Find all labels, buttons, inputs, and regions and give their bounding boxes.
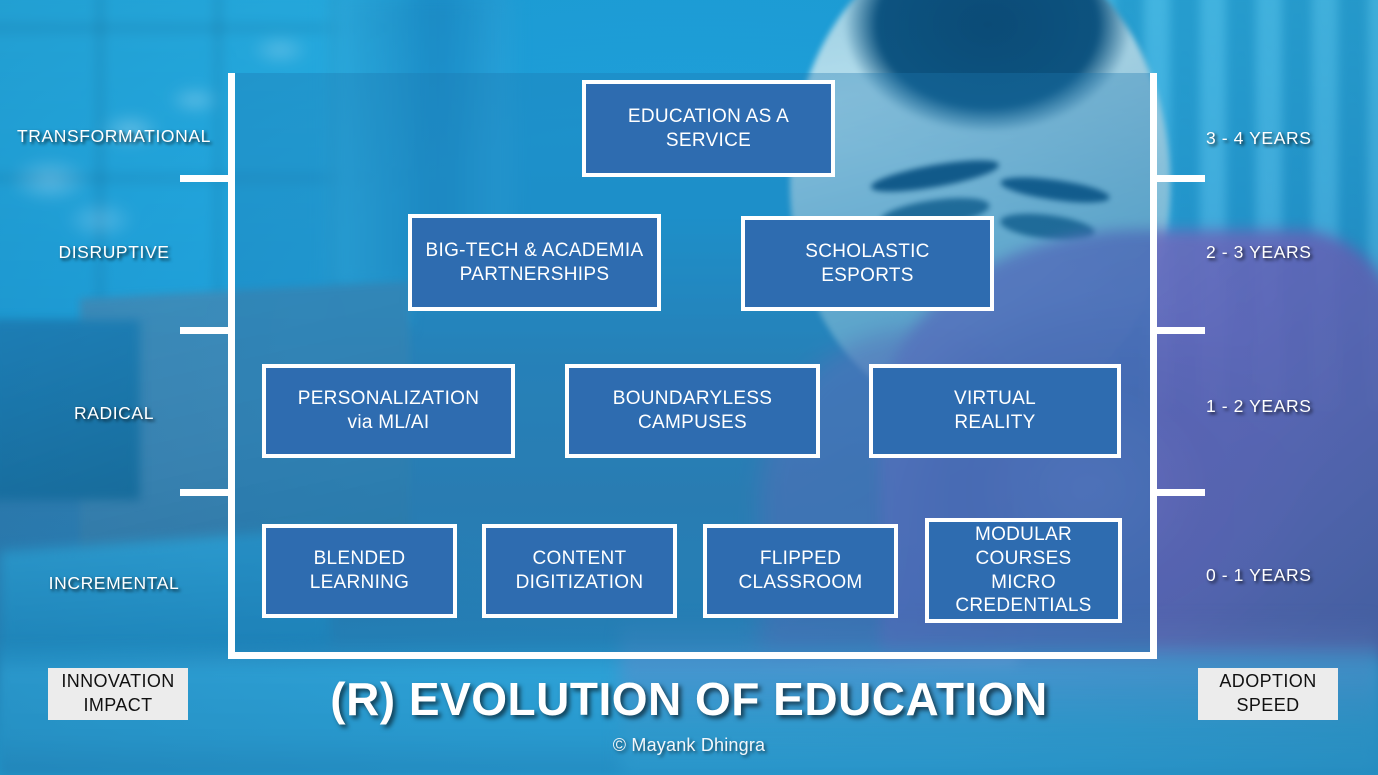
- innovation-impact-axis: [228, 73, 235, 659]
- matrix-baseline: [228, 652, 1157, 659]
- innovation-card-label: BLENDEDLEARNING: [310, 547, 410, 595]
- innovation-card-education-as-a-service[interactable]: EDUCATION AS A SERVICE: [582, 80, 835, 177]
- speed-axis-label-3: 0 - 1 YEARS: [1206, 565, 1312, 586]
- speed-axis-tick: [1150, 175, 1205, 182]
- innovation-card-label: BIG-TECH & ACADEMIAPARTNERSHIPS: [426, 239, 644, 287]
- innovation-card-label: FLIPPEDCLASSROOM: [738, 547, 862, 595]
- innovation-card-line: MODULAR COURSES: [929, 523, 1118, 571]
- innovation-card-line: FLIPPED: [738, 547, 862, 571]
- innovation-card-virtual-reality[interactable]: VIRTUALREALITY: [869, 364, 1121, 458]
- innovation-card-line: SCHOLASTIC: [805, 240, 929, 264]
- innovation-card-line: BLENDED: [310, 547, 410, 571]
- impact-axis-tick: [180, 327, 235, 334]
- innovation-card-line: REALITY: [954, 411, 1036, 435]
- innovation-card-big-tech-academia-partnerships[interactable]: BIG-TECH & ACADEMIAPARTNERSHIPS: [408, 214, 661, 311]
- impact-axis-label-0: TRANSFORMATIONAL: [8, 126, 220, 147]
- impact-axis-label-1: DISRUPTIVE: [8, 242, 220, 263]
- innovation-card-line: CLASSROOM: [738, 571, 862, 595]
- innovation-card-line: BIG-TECH & ACADEMIA: [426, 239, 644, 263]
- innovation-card-label: CONTENTDIGITIZATION: [516, 547, 644, 595]
- innovation-card-line: ESPORTS: [805, 264, 929, 288]
- innovation-card-line: EDUCATION AS A SERVICE: [586, 105, 831, 153]
- innovation-card-line: via ML/AI: [298, 411, 480, 435]
- impact-axis-tick: [180, 175, 235, 182]
- speed-axis-label-1: 2 - 3 YEARS: [1206, 242, 1312, 263]
- credit-line: © Mayank Dhingra: [0, 735, 1378, 756]
- innovation-card-label: PERSONALIZATIONvia ML/AI: [298, 387, 480, 435]
- innovation-card-line: VIRTUAL: [954, 387, 1036, 411]
- innovation-card-content-digitization[interactable]: CONTENTDIGITIZATION: [482, 524, 677, 618]
- infographic-canvas: TRANSFORMATIONALDISRUPTIVERADICALINCREME…: [0, 0, 1378, 775]
- innovation-card-line: PARTNERSHIPS: [426, 263, 644, 287]
- innovation-card-label: MODULAR COURSESMICROCREDENTIALS: [929, 523, 1118, 618]
- impact-axis-label-3: INCREMENTAL: [8, 573, 220, 594]
- innovation-card-personalization-via-ml-ai[interactable]: PERSONALIZATIONvia ML/AI: [262, 364, 515, 458]
- innovation-card-flipped-classroom[interactable]: FLIPPEDCLASSROOM: [703, 524, 898, 618]
- impact-axis-tick: [180, 489, 235, 496]
- innovation-card-scholastic-esports[interactable]: SCHOLASTICESPORTS: [741, 216, 994, 311]
- innovation-card-label: VIRTUALREALITY: [954, 387, 1036, 435]
- innovation-card-line: LEARNING: [310, 571, 410, 595]
- adoption-speed-axis: [1150, 73, 1157, 659]
- speed-axis-label-0: 3 - 4 YEARS: [1206, 128, 1312, 149]
- speed-axis-tick: [1150, 489, 1205, 496]
- innovation-card-label: EDUCATION AS A SERVICE: [586, 105, 831, 153]
- innovation-card-line: CONTENT: [516, 547, 644, 571]
- innovation-card-line: BOUNDARYLESS: [613, 387, 773, 411]
- innovation-card-line: DIGITIZATION: [516, 571, 644, 595]
- innovation-card-line: CAMPUSES: [613, 411, 773, 435]
- innovation-card-blended-learning[interactable]: BLENDEDLEARNING: [262, 524, 457, 618]
- innovation-card-boundaryless-campuses[interactable]: BOUNDARYLESSCAMPUSES: [565, 364, 820, 458]
- innovation-card-label: SCHOLASTICESPORTS: [805, 240, 929, 288]
- page-title: (R) EVOLUTION OF EDUCATION: [0, 672, 1378, 726]
- impact-axis-label-2: RADICAL: [8, 403, 220, 424]
- speed-axis-tick: [1150, 327, 1205, 334]
- innovation-card-line: PERSONALIZATION: [298, 387, 480, 411]
- innovation-card-line: MICRO: [929, 571, 1118, 595]
- innovation-card-modular-courses-micro-credentials[interactable]: MODULAR COURSESMICROCREDENTIALS: [925, 518, 1122, 623]
- speed-axis-label-2: 1 - 2 YEARS: [1206, 396, 1312, 417]
- innovation-card-line: CREDENTIALS: [929, 594, 1118, 618]
- innovation-card-label: BOUNDARYLESSCAMPUSES: [613, 387, 773, 435]
